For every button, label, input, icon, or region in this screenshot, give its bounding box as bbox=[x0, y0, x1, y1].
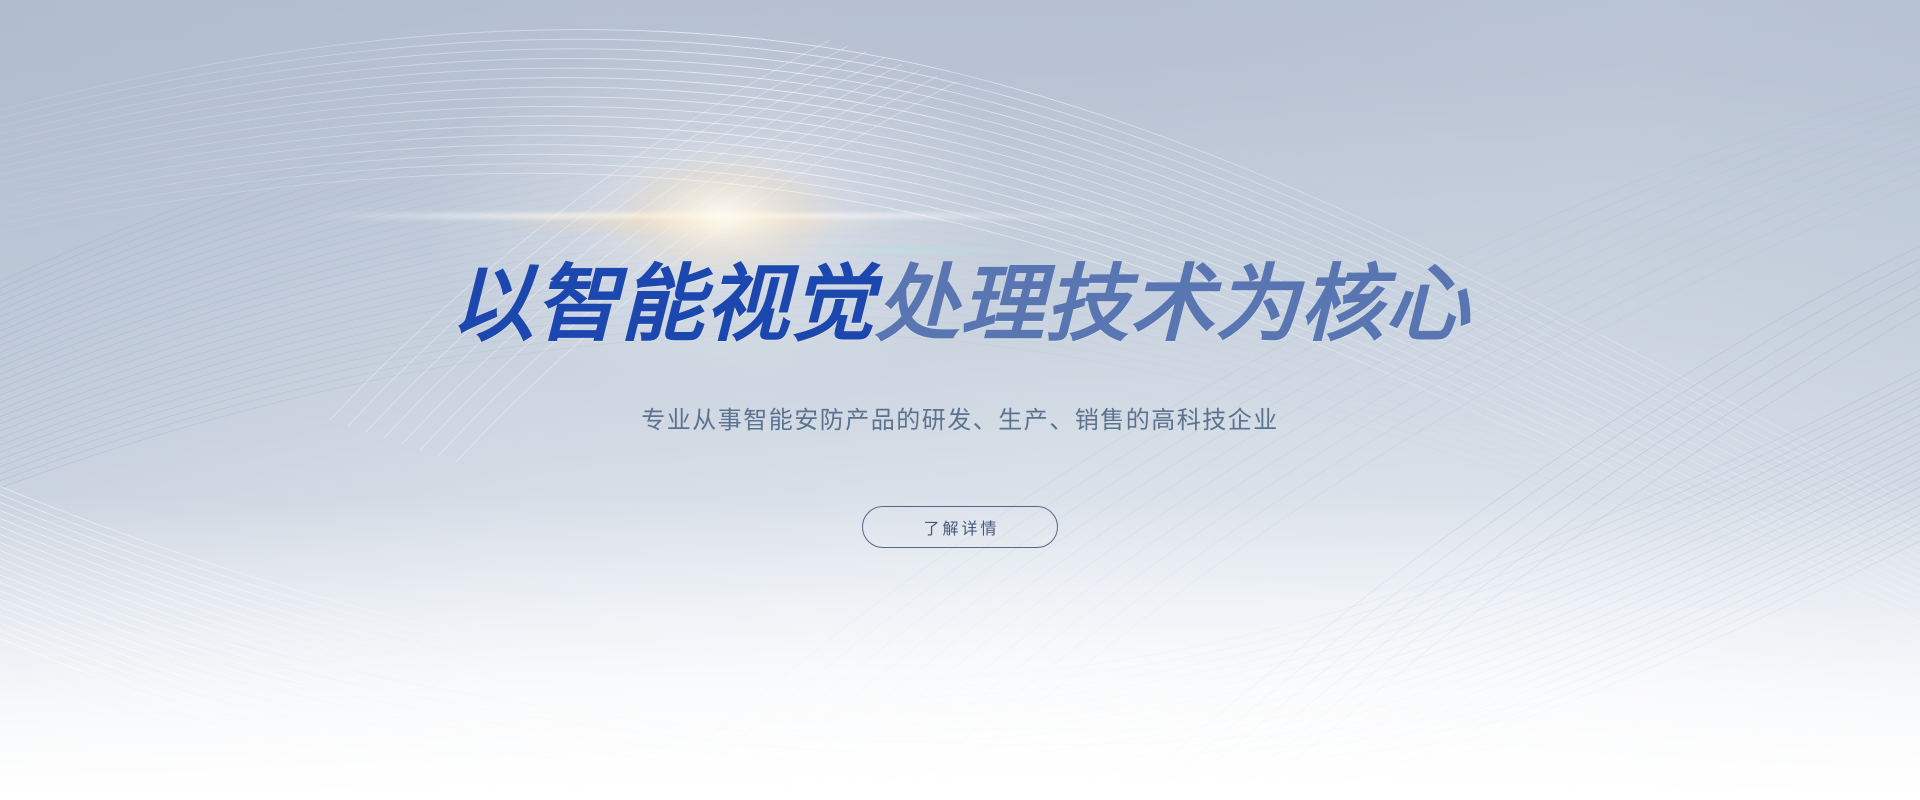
learn-more-button[interactable]: 了解详情 bbox=[862, 506, 1058, 548]
headline-segment-secondary: 处理技术为核心 bbox=[875, 255, 1470, 353]
hero-headline: 以智能视觉处理技术为核心 bbox=[450, 262, 1470, 346]
hero-banner: 以智能视觉处理技术为核心 专业从事智能安防产品的研发、生产、销售的高科技企业 了… bbox=[0, 0, 1920, 800]
hero-subtitle: 专业从事智能安防产品的研发、生产、销售的高科技企业 bbox=[641, 404, 1279, 438]
hero-content: 以智能视觉处理技术为核心 专业从事智能安防产品的研发、生产、销售的高科技企业 了… bbox=[0, 0, 1920, 800]
headline-segment-primary: 以智能视觉 bbox=[450, 255, 875, 353]
